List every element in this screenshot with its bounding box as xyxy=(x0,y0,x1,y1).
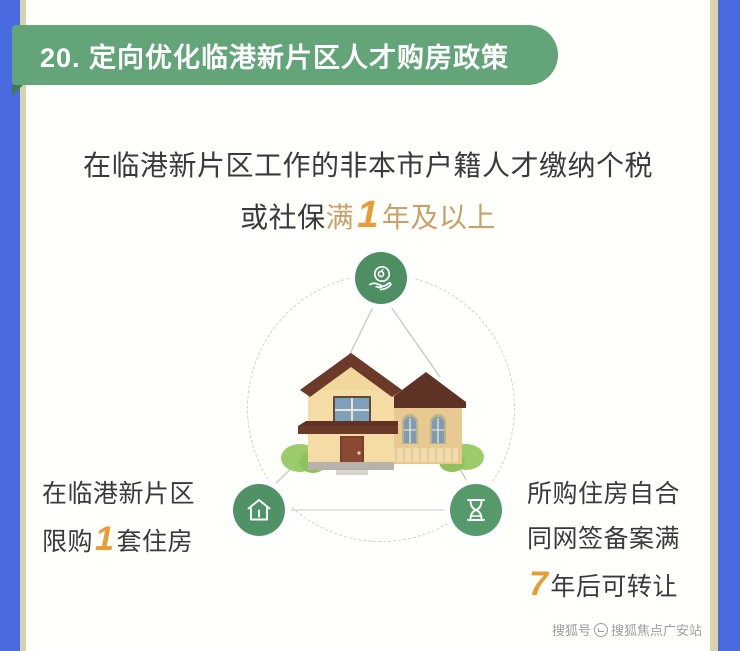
headline-highlight-number: 1 xyxy=(354,194,382,236)
right-tan-strip xyxy=(710,0,718,651)
left-blue-strip xyxy=(0,0,20,651)
banner-ribbon-tail xyxy=(12,85,23,96)
page-title: 20. 定向优化临港新片区人才购房政策 xyxy=(40,36,509,75)
house-illustration xyxy=(280,350,485,478)
title-banner: 20. 定向优化临港新片区人才购房政策 xyxy=(12,25,558,85)
hourglass-icon xyxy=(462,496,490,524)
home-icon xyxy=(245,496,273,524)
watermark-suffix: 搜狐焦点广安站 xyxy=(611,620,702,639)
right-caption-suffix: 年后可转让 xyxy=(550,573,678,601)
left-caption-suffix: 套住房 xyxy=(116,528,193,556)
headline-line-2-gold-before: 满 xyxy=(326,202,355,233)
node-tax-payment[interactable] xyxy=(355,252,407,304)
circle-diagram xyxy=(225,252,537,564)
left-caption-line-2: 限购1套住房 xyxy=(42,517,195,565)
right-caption-number: 7 xyxy=(527,565,550,603)
node-transfer-period[interactable] xyxy=(450,484,502,536)
headline-line-2-prefix: 或社保 xyxy=(240,202,326,233)
left-caption-number: 1 xyxy=(93,520,116,558)
watermark-prefix: 搜狐号 xyxy=(552,620,591,639)
headline-line-1: 在临港新片区工作的非本市户籍人才缴纳个税 xyxy=(26,140,710,192)
right-caption: 所购住房自合 同网签备案满 7年后可转让 xyxy=(527,472,680,610)
right-caption-line-1: 所购住房自合 xyxy=(527,472,680,517)
left-caption-prefix: 限购 xyxy=(42,528,93,556)
right-caption-line-2: 同网签备案满 xyxy=(527,517,680,562)
right-blue-strip xyxy=(718,0,740,651)
sohu-logo-icon xyxy=(594,623,608,637)
left-caption: 在临港新片区 限购1套住房 xyxy=(42,472,195,565)
left-caption-line-1: 在临港新片区 xyxy=(42,472,195,517)
hand-coin-icon xyxy=(366,263,396,293)
headline-line-2-gold-after: 年及以上 xyxy=(382,202,496,233)
watermark: 搜狐号 搜狐焦点广安站 xyxy=(552,620,702,639)
infographic-page: 20. 定向优化临港新片区人才购房政策 在临港新片区工作的非本市户籍人才缴纳个税… xyxy=(0,0,740,651)
headline-block: 在临港新片区工作的非本市户籍人才缴纳个税 或社保满1年及以上 xyxy=(26,140,710,244)
right-caption-line-3: 7年后可转让 xyxy=(527,562,680,610)
headline-line-2: 或社保满1年及以上 xyxy=(26,192,710,244)
node-purchase-limit[interactable] xyxy=(233,484,285,536)
